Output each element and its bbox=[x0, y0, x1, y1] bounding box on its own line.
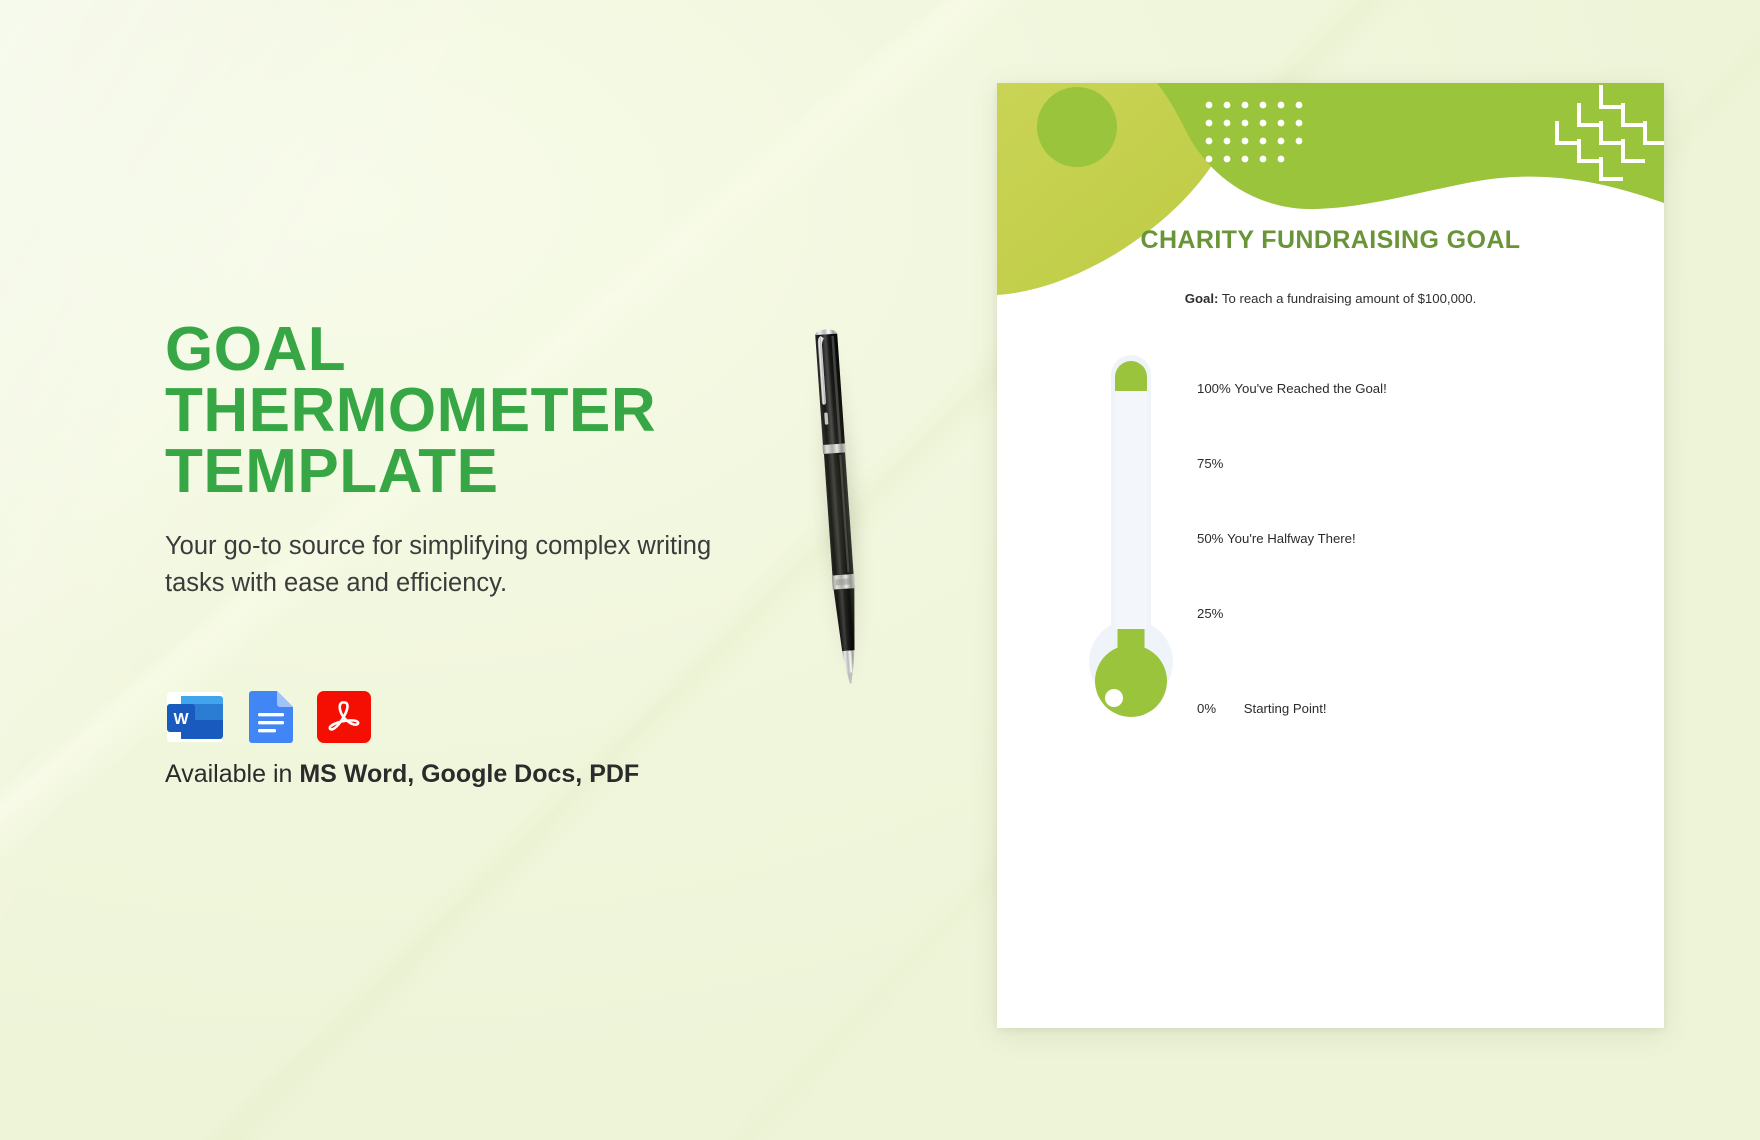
scale-percent-100: 100% bbox=[1197, 381, 1231, 396]
goal-text: To reach a fundraising amount of $100,00… bbox=[1218, 291, 1476, 306]
thermometer-tube bbox=[1115, 361, 1147, 629]
promo-subhead: Your go-to source for simplifying comple… bbox=[165, 528, 765, 602]
pdf-icon[interactable] bbox=[313, 686, 375, 748]
thermometer-bulb bbox=[1095, 645, 1167, 717]
scale-tick-50: 50% You're Halfway There! bbox=[1197, 531, 1356, 546]
scale-tick-75: 75% bbox=[1197, 456, 1227, 471]
svg-text:W: W bbox=[173, 711, 189, 728]
availability-lead: Available in bbox=[165, 760, 299, 788]
thermometer-graphic bbox=[1083, 333, 1179, 753]
headline-line-1: GOAL bbox=[165, 320, 785, 381]
promo-text-block: GOAL THERMOMETER TEMPLATE Your go-to sou… bbox=[165, 320, 785, 602]
availability-label: Available in MS Word, Google Docs, PDF bbox=[165, 760, 639, 789]
goal-label: Goal: bbox=[1185, 291, 1219, 306]
goal-statement: Goal: To reach a fundraising amount of $… bbox=[997, 291, 1664, 306]
scale-message-100: You've Reached the Goal! bbox=[1234, 381, 1386, 396]
page-title: GOAL THERMOMETER TEMPLATE bbox=[165, 320, 785, 502]
availability-formats: MS Word, Google Docs, PDF bbox=[299, 760, 639, 788]
ms-word-icon[interactable]: W bbox=[165, 686, 227, 748]
bulb-highlight-dot bbox=[1105, 689, 1123, 707]
headline-line-3: TEMPLATE bbox=[165, 442, 785, 503]
document-preview[interactable]: CHARITY FUNDRAISING GOAL Goal: To reach … bbox=[997, 83, 1664, 1028]
scale-percent-0: 0% bbox=[1197, 701, 1216, 716]
scale-percent-50: 50% bbox=[1197, 531, 1223, 546]
scale-message-50: You're Halfway There! bbox=[1227, 531, 1356, 546]
headline-line-2: THERMOMETER bbox=[165, 381, 785, 442]
scale-message-0: Starting Point! bbox=[1244, 701, 1327, 716]
scale-percent-25: 25% bbox=[1197, 606, 1223, 621]
green-wave-shape bbox=[1157, 83, 1664, 209]
document-title: CHARITY FUNDRAISING GOAL bbox=[997, 226, 1664, 255]
scale-tick-25: 25% bbox=[1197, 606, 1227, 621]
green-circle-accent bbox=[1037, 87, 1117, 167]
scale-percent-75: 75% bbox=[1197, 456, 1223, 471]
thermometer-scale: 100% You've Reached the Goal! 75% 50% Yo… bbox=[1197, 333, 1617, 753]
scale-tick-0: 0% Starting Point! bbox=[1197, 701, 1327, 716]
google-docs-icon[interactable] bbox=[239, 686, 301, 748]
scale-tick-100: 100% You've Reached the Goal! bbox=[1197, 381, 1387, 396]
format-icon-row: W bbox=[165, 686, 375, 748]
